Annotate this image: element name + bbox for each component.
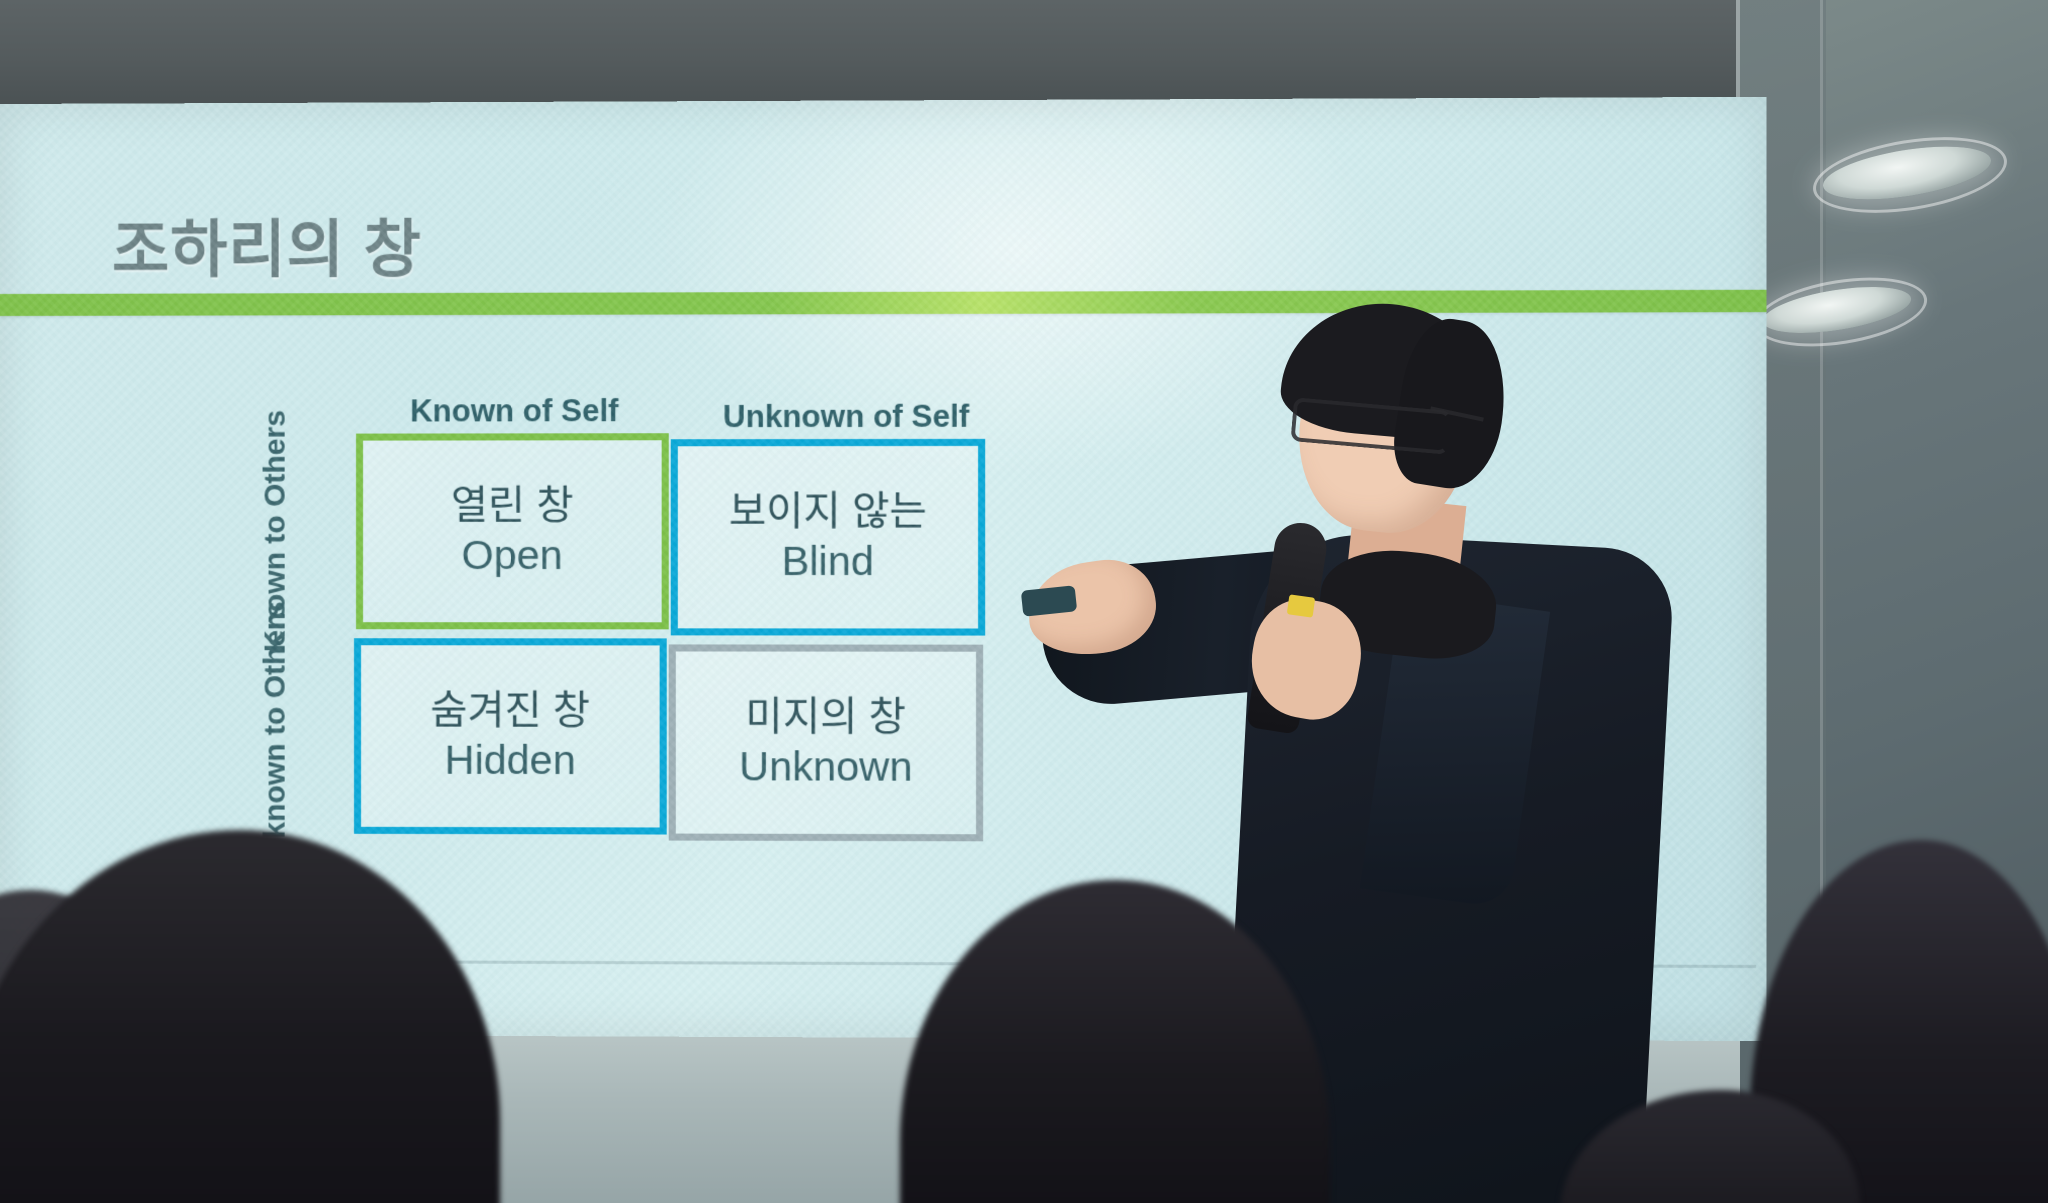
quadrant-blind-korean-label: 보이지 않는 xyxy=(729,489,927,534)
quadrant-hidden: 숨겨진 창 Hidden xyxy=(354,638,667,834)
quadrant-open-korean-label: 열린 창 xyxy=(451,484,574,529)
column-header-unknown-of-self: Unknown of Self xyxy=(679,399,1014,436)
quadrant-unknown-korean-label: 미지의 창 xyxy=(745,695,906,740)
quadrant-unknown: 미지의 창 Unknown xyxy=(669,644,983,841)
conference-room: 조하리의 창 Known of Self Unknown of Self Kno… xyxy=(0,0,2048,1203)
slide-title: 조하리의 창 xyxy=(112,199,422,290)
quadrant-open-english-label: Open xyxy=(462,532,563,579)
microphone-badge-icon xyxy=(1287,594,1316,617)
quadrant-blind-english-label: Blind xyxy=(782,538,874,586)
quadrant-hidden-korean-label: 숨겨진 창 xyxy=(430,688,590,733)
quadrant-open: 열린 창 Open xyxy=(356,433,669,629)
quadrant-unknown-english-label: Unknown xyxy=(739,743,912,791)
quadrant-hidden-english-label: Hidden xyxy=(445,736,576,784)
column-header-known-of-self: Known of Self xyxy=(348,393,681,430)
quadrant-blind: 보이지 않는 Blind xyxy=(671,439,985,636)
